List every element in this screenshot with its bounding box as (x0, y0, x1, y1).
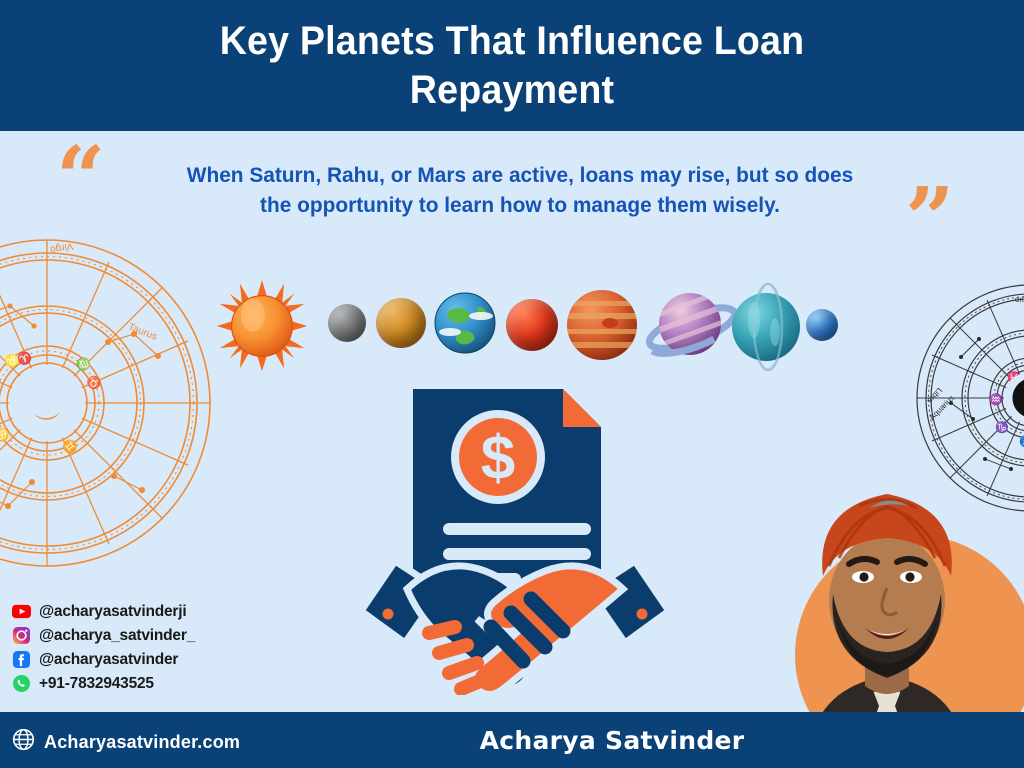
social-link-instagram[interactable]: @acharya_satvinder_ (12, 624, 272, 647)
facebook-icon (12, 650, 31, 669)
svg-text:♋: ♋ (0, 427, 9, 442)
social-links-list: @acharyasatvinderji @acharya_satvinder_ (12, 600, 272, 696)
svg-text:♒: ♒ (989, 393, 1003, 406)
zodiac-wheel-left-icon: ♈ ♉ ♊ ♋ ♌ ♍ Aries Taurus Leo Virgo (0, 238, 212, 568)
svg-text:♉: ♉ (85, 374, 104, 392)
globe-icon (12, 728, 35, 756)
quote-line-1: When Saturn, Rahu, or Mars are active, l… (151, 160, 888, 190)
planet-mercury-icon (328, 304, 366, 342)
planet-mars-icon (506, 299, 558, 351)
svg-text:♍: ♍ (74, 355, 93, 373)
whatsapp-icon (12, 674, 31, 693)
quote-open-mark: “ (56, 136, 105, 222)
quote-line-2: the opportunity to learn how to manage t… (151, 190, 888, 220)
solar-system-row (216, 278, 836, 372)
loan-agreement-handshake-icon: $ (355, 375, 675, 695)
planet-jupiter-icon (566, 289, 638, 361)
svg-text:♑: ♑ (995, 421, 1009, 434)
planet-saturn-icon (644, 286, 740, 366)
svg-text:Virgo: Virgo (49, 240, 74, 255)
social-link-whatsapp[interactable]: +91-7832943525 (12, 672, 272, 695)
planet-neptune-icon (806, 309, 838, 341)
social-label-youtube: @acharyasatvinderji (39, 603, 186, 621)
page-title: Key Planets That Influence Loan Repaymen… (136, 17, 888, 115)
quote-close-mark: ” (905, 177, 954, 263)
planet-venus-icon (376, 298, 426, 348)
website-label: Acharyasatvinder.com (44, 732, 240, 753)
quote-text: When Saturn, Rahu, or Mars are active, l… (151, 160, 888, 220)
social-label-instagram: @acharya_satvinder_ (39, 627, 195, 645)
header-bar: Key Planets That Influence Loan Repaymen… (0, 0, 1024, 131)
website-link[interactable]: Acharyasatvinder.com (12, 728, 240, 756)
planet-uranus-icon (728, 282, 804, 372)
social-link-youtube[interactable]: @acharyasatvinderji (12, 600, 272, 623)
planet-sun-icon (216, 280, 308, 372)
svg-text:Taurus: Taurus (127, 321, 159, 342)
social-link-facebook[interactable]: @acharyasatvinder (12, 648, 272, 671)
svg-text:$: $ (481, 424, 515, 493)
svg-text:♐: ♐ (1019, 435, 1024, 448)
social-label-facebook: @acharyasatvinder (39, 651, 178, 669)
youtube-icon (12, 602, 31, 621)
social-label-whatsapp: +91-7832943525 (39, 675, 154, 693)
instagram-icon (12, 626, 31, 645)
poster-canvas: Key Planets That Influence Loan Repaymen… (0, 0, 1024, 768)
footer-bar: Acharyasatvinder.com Acharya Satvinder (0, 712, 1024, 768)
planet-earth-icon (434, 292, 496, 354)
